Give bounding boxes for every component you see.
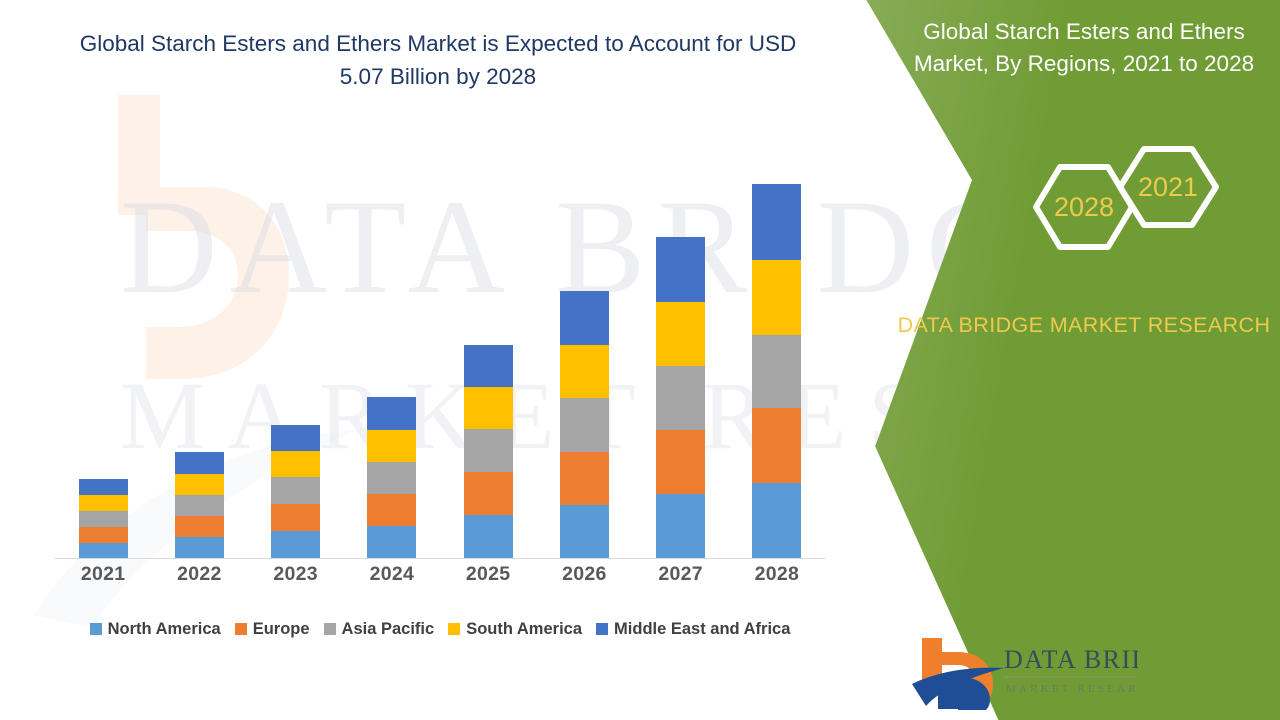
chart-title: Global Starch Esters and Ethers Market i… — [58, 28, 818, 93]
bar-segment — [656, 430, 705, 494]
logo-name-line1: DATA BRIDGE — [1004, 645, 1138, 674]
bar-segment — [367, 494, 416, 526]
bar-slot-2024 — [344, 150, 440, 558]
slide-canvas: DATA BRIDGE MARKET RESEARCH Global Starc… — [0, 0, 1280, 720]
bar-slot-2027 — [633, 150, 729, 558]
stacked-bar[interactable] — [752, 184, 801, 558]
bar-segment — [656, 237, 705, 302]
legend-swatch-icon — [596, 623, 608, 635]
bar-segment — [464, 472, 513, 515]
bar-segment — [560, 452, 609, 505]
bar-segment — [560, 505, 609, 558]
x-axis-label: 2024 — [344, 563, 440, 593]
bar-segment — [79, 511, 128, 527]
bar-segment — [656, 302, 705, 366]
logo-name-line2: MARKET RESEARCH — [1006, 683, 1138, 695]
bar-segment — [79, 479, 128, 495]
legend-label: Middle East and Africa — [614, 620, 790, 639]
legend-item[interactable]: Middle East and Africa — [596, 620, 790, 639]
hexagon-2028-label: 2028 — [1054, 192, 1114, 222]
bar-segment — [271, 477, 320, 504]
bar-segment — [367, 462, 416, 494]
bar-segment — [752, 184, 801, 260]
hexagon-2021-label: 2021 — [1138, 172, 1198, 202]
stacked-bar[interactable] — [175, 452, 224, 558]
bar-segment — [752, 483, 801, 558]
stacked-bar[interactable] — [464, 345, 513, 558]
x-axis-label: 2026 — [536, 563, 632, 593]
bar-segment — [560, 345, 609, 398]
bar-slot-2021 — [55, 150, 151, 558]
bar-segment — [175, 516, 224, 537]
bar-segment — [367, 430, 416, 462]
bar-segment — [175, 452, 224, 474]
legend-item[interactable]: South America — [448, 620, 582, 639]
bar-slot-2025 — [440, 150, 536, 558]
legend-swatch-icon — [90, 623, 102, 635]
bar-segment — [752, 335, 801, 408]
panel-title: Global Starch Esters and Ethers Market, … — [888, 16, 1280, 80]
x-axis-label: 2023 — [248, 563, 344, 593]
legend-label: South America — [466, 620, 582, 639]
stacked-bar[interactable] — [271, 425, 320, 558]
stacked-bar[interactable] — [656, 237, 705, 558]
bar-segment — [271, 531, 320, 558]
bar-segment — [752, 260, 801, 335]
company-logo: DATA BRIDGE MARKET RESEARCH — [908, 632, 1138, 710]
legend-label: North America — [108, 620, 221, 639]
bar-slot-2022 — [151, 150, 247, 558]
bar-slot-2023 — [248, 150, 344, 558]
legend-swatch-icon — [324, 623, 336, 635]
bar-segment — [175, 474, 224, 495]
stacked-bar[interactable] — [560, 291, 609, 558]
legend-item[interactable]: North America — [90, 620, 221, 639]
bar-segment — [271, 451, 320, 477]
x-axis-label: 2028 — [729, 563, 825, 593]
chart-legend: North AmericaEuropeAsia PacificSouth Ame… — [55, 616, 825, 642]
bar-segment — [79, 543, 128, 558]
logo-mark-icon — [912, 638, 1004, 710]
bar-segment — [464, 387, 513, 429]
bar-segment — [560, 398, 609, 452]
bar-segment — [560, 291, 609, 345]
stacked-bar[interactable] — [79, 479, 128, 558]
panel-brand-text: DATA BRIDGE MARKET RESEARCH — [888, 310, 1280, 341]
legend-item[interactable]: Asia Pacific — [324, 620, 435, 639]
x-axis-labels: 20212022202320242025202620272028 — [55, 563, 825, 593]
bar-segment — [464, 429, 513, 472]
chart-plot-area — [55, 150, 825, 559]
stacked-bar[interactable] — [367, 397, 416, 558]
bar-segment — [271, 504, 320, 531]
bar-segment — [656, 366, 705, 430]
x-axis-label: 2027 — [633, 563, 729, 593]
bar-segment — [367, 526, 416, 558]
bar-segment — [175, 495, 224, 516]
right-green-panel — [840, 0, 1280, 720]
legend-label: Asia Pacific — [342, 620, 435, 639]
stacked-bars-group — [55, 150, 825, 558]
bar-segment — [464, 345, 513, 387]
bar-slot-2026 — [536, 150, 632, 558]
legend-item[interactable]: Europe — [235, 620, 310, 639]
bar-segment — [656, 494, 705, 558]
legend-swatch-icon — [235, 623, 247, 635]
x-axis-label: 2021 — [55, 563, 151, 593]
bar-segment — [464, 515, 513, 558]
x-axis-label: 2022 — [151, 563, 247, 593]
bar-segment — [367, 397, 416, 430]
hexagon-badges: 2028 2021 — [1014, 145, 1234, 270]
x-axis-label: 2025 — [440, 563, 536, 593]
bar-segment — [79, 495, 128, 511]
bar-segment — [79, 527, 128, 543]
legend-swatch-icon — [448, 623, 460, 635]
legend-label: Europe — [253, 620, 310, 639]
x-axis-line — [55, 558, 825, 559]
panel-gloss — [866, 0, 1068, 720]
bar-segment — [752, 408, 801, 483]
bar-slot-2028 — [729, 150, 825, 558]
bar-segment — [271, 425, 320, 451]
bar-segment — [175, 537, 224, 558]
